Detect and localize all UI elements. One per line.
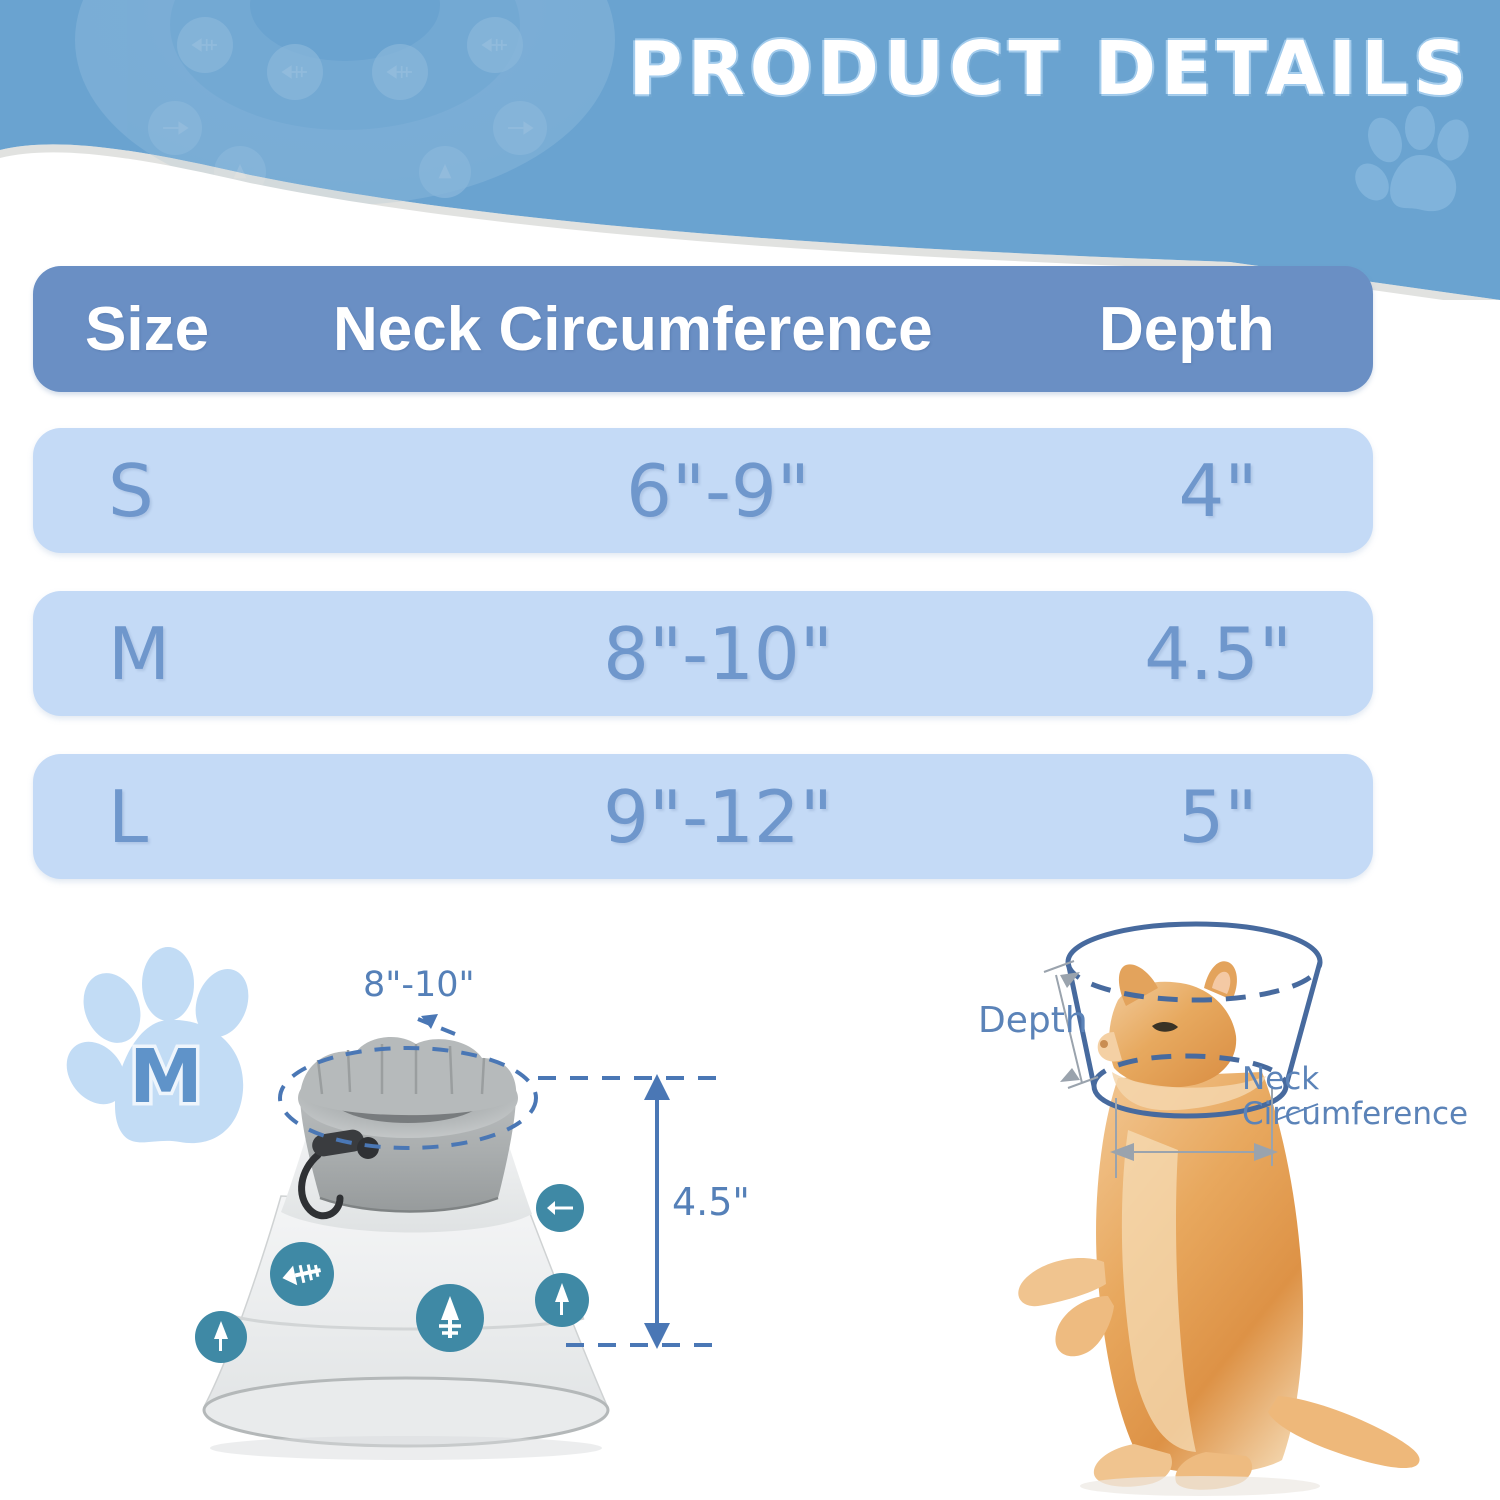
table-header-row: Size Neck Circumference Depth	[33, 266, 1373, 392]
table-row: M 8"-10" 4.5"	[33, 591, 1373, 716]
page-title: PRODUCT DETAILS	[600, 14, 1500, 124]
depth-dimension-label: 4.5"	[672, 1180, 750, 1224]
column-header-neck: Neck Circumference	[323, 294, 1093, 365]
fishbone-pattern	[195, 1184, 589, 1363]
cell-depth: 4"	[1063, 449, 1373, 533]
depth-label-right: Depth	[978, 1000, 1088, 1041]
table-row: S 6"-9" 4"	[33, 428, 1373, 553]
cell-size: M	[33, 612, 373, 696]
neck-label-line2: Circumference	[1242, 1097, 1468, 1132]
badge-letter: M	[129, 1034, 203, 1120]
neck-measure-callout	[280, 1014, 536, 1148]
column-header-size: Size	[33, 294, 323, 365]
neck-dimension-label: 8"-10"	[363, 965, 475, 1005]
paw-print-icon	[55, 947, 258, 1143]
size-badge-m: M	[55, 947, 258, 1143]
cell-neck: 8"-10"	[373, 612, 1063, 696]
cell-size: L	[33, 775, 373, 859]
neck-circumference-label-right: Neck Circumference	[1242, 1062, 1468, 1131]
cell-neck: 9"-12"	[373, 775, 1063, 859]
table-row: L 9"-12" 5"	[33, 754, 1373, 879]
product-details-page: PRODUCT DETAILS Size Neck Circumference …	[0, 0, 1500, 1500]
column-header-depth: Depth	[1093, 294, 1373, 365]
cone-collar-illustration	[195, 1037, 608, 1460]
cell-size: S	[33, 449, 373, 533]
size-table: Size Neck Circumference Depth S 6"-9" 4"…	[33, 266, 1373, 917]
banner: PRODUCT DETAILS	[0, 0, 1500, 300]
cell-neck: 6"-9"	[373, 449, 1063, 533]
cell-depth: 5"	[1063, 775, 1373, 859]
cat-with-cone-illustration	[1018, 961, 1419, 1496]
neck-label-line1: Neck	[1242, 1062, 1468, 1097]
cell-depth: 4.5"	[1063, 612, 1373, 696]
